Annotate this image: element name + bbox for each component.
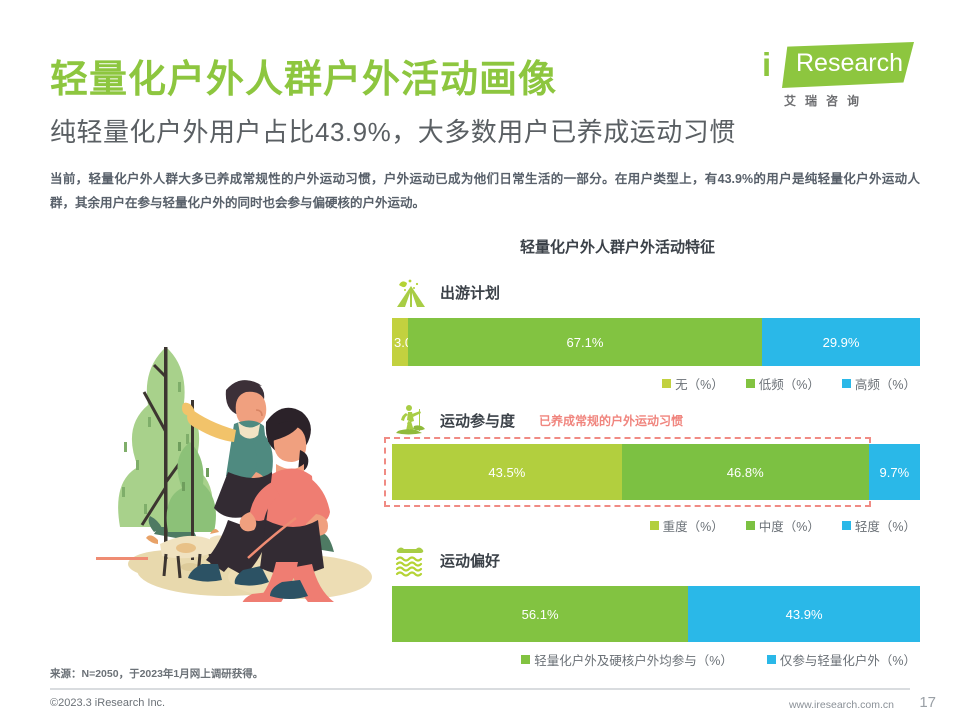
iresearch-logo: i Research 艾瑞咨询	[754, 42, 914, 114]
legend-swatch-icon	[746, 521, 755, 530]
legend-sport-participation: 重度（%） 中度（%） 轻度（%）	[392, 516, 920, 535]
logo-badge: i Research	[754, 42, 914, 88]
section-header: 运动参与度 已养成常规的户外运动习惯	[392, 400, 920, 440]
hiker-icon	[392, 401, 430, 439]
legend-item-moderate: 中度（%）	[746, 516, 820, 535]
legend-item-low-frequency: 低频（%）	[746, 374, 820, 393]
legend-label: 仅参与轻量化户外（%）	[780, 650, 916, 669]
chart-panel-title: 轻量化户外人群户外活动特征	[520, 236, 715, 257]
bar-with-annotation-box: 43.5% 46.8% 9.7%	[392, 444, 920, 500]
logo-letter-i: i	[762, 48, 771, 81]
section-header: 出游计划	[392, 272, 920, 312]
bar-segment-moderate: 46.8%	[622, 444, 869, 500]
legend-label: 轻量化户外及硬核户外均参与（%）	[534, 650, 733, 669]
legend-label: 低频（%）	[759, 374, 820, 393]
legend-item-none: 无（%）	[662, 374, 724, 393]
legend-label: 中度（%）	[759, 516, 820, 535]
section-annotation-note: 已养成常规的户外运动习惯	[539, 412, 683, 429]
legend-label: 重度（%）	[663, 516, 724, 535]
stacked-bar-sport-preference: 56.1% 43.9%	[392, 586, 920, 642]
section-header: 运动偏好	[392, 540, 920, 580]
legend-swatch-icon	[662, 379, 671, 388]
couple-walking-dog-illustration	[50, 282, 390, 602]
section-label: 出游计划	[440, 282, 500, 303]
bar-segment-high-frequency: 29.9%	[762, 318, 920, 366]
source-note: 来源：N=2050，于2023年1月网上调研获得。	[50, 666, 263, 681]
stacked-bar-travel-plan: 3.0% 67.1% 29.9%	[392, 318, 920, 366]
kayak-waves-icon	[392, 541, 430, 579]
bar-segment-light: 9.7%	[869, 444, 920, 500]
legend-swatch-icon	[521, 655, 530, 664]
legend-swatch-icon	[767, 655, 776, 664]
legend-swatch-icon	[650, 521, 659, 530]
logo-chinese-name: 艾瑞咨询	[784, 92, 868, 109]
legend-item-heavy: 重度（%）	[650, 516, 724, 535]
bar-segment-heavy: 43.5%	[392, 444, 622, 500]
slide-page: 轻量化户外人群户外活动画像 纯轻量化户外用户占比43.9%，大多数用户已养成运动…	[0, 0, 960, 720]
legend-label: 轻度（%）	[855, 516, 916, 535]
copyright-text: ©2023.3 iResearch Inc.	[50, 697, 165, 709]
page-subtitle: 纯轻量化户外用户占比43.9%，大多数用户已养成运动习惯	[50, 112, 736, 149]
section-label: 运动偏好	[440, 550, 500, 571]
legend-travel-plan: 无（%） 低频（%） 高频（%）	[392, 374, 920, 393]
legend-swatch-icon	[842, 521, 851, 530]
legend-label: 无（%）	[675, 374, 724, 393]
bar-segment-none: 3.0%	[392, 318, 408, 366]
legend-item-light-only: 仅参与轻量化户外（%）	[767, 650, 916, 669]
logo-wordmark: Research	[796, 51, 903, 76]
section-sport-participation: 运动参与度 已养成常规的户外运动习惯 43.5% 46.8% 9.7% 重度（%…	[392, 400, 920, 535]
legend-item-light: 轻度（%）	[842, 516, 916, 535]
page-title: 轻量化户外人群户外活动画像	[50, 48, 557, 103]
legend-swatch-icon	[842, 379, 851, 388]
legend-label: 高频（%）	[855, 374, 916, 393]
website-url: www.iresearch.com.cn	[789, 699, 894, 711]
legend-sport-preference: 轻量化户外及硬核户外均参与（%） 仅参与轻量化户外（%）	[392, 650, 920, 669]
section-label: 运动参与度	[440, 410, 515, 431]
legend-item-high-frequency: 高频（%）	[842, 374, 916, 393]
stacked-bar-sport-participation: 43.5% 46.8% 9.7%	[392, 444, 920, 500]
section-sport-preference: 运动偏好 56.1% 43.9% 轻量化户外及硬核户外均参与（%） 仅参与轻量化…	[392, 540, 920, 669]
intro-paragraph: 当前，轻量化户外人群大多已养成常规性的户外运动习惯，户外运动已成为他们日常生活的…	[50, 168, 920, 216]
footer-divider	[50, 688, 910, 690]
bar-segment-light-only: 43.9%	[688, 586, 920, 642]
tent-icon	[392, 273, 430, 311]
section-travel-plan: 出游计划 3.0% 67.1% 29.9% 无（%） 低频（%） 高频（%）	[392, 272, 920, 393]
legend-swatch-icon	[746, 379, 755, 388]
legend-item-both-light-and-hardcore: 轻量化户外及硬核户外均参与（%）	[521, 650, 733, 669]
page-number: 17	[919, 694, 936, 711]
bar-segment-low-frequency: 67.1%	[408, 318, 762, 366]
bar-segment-both-light-and-hardcore: 56.1%	[392, 586, 688, 642]
